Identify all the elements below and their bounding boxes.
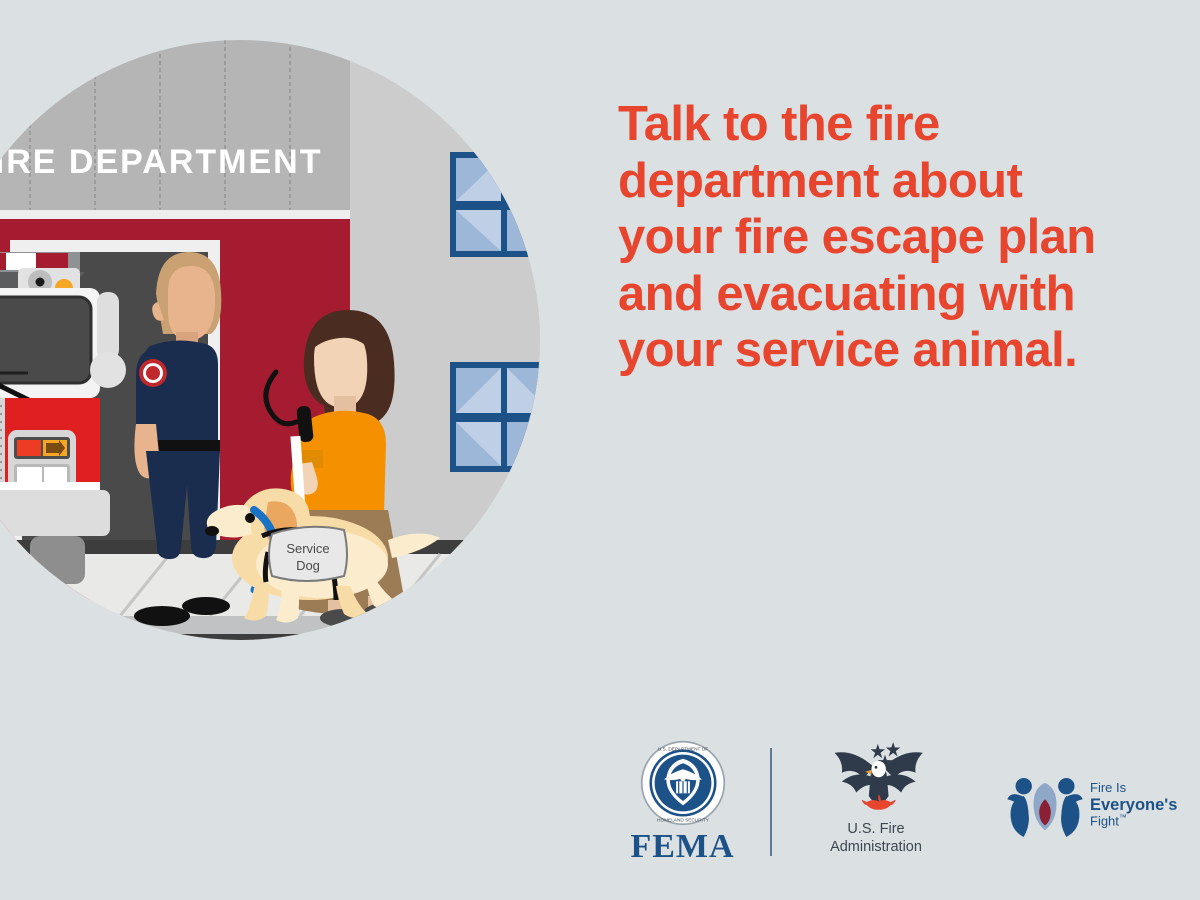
- fief-trademark: ™: [1119, 813, 1127, 822]
- truck-windshield-right: [0, 297, 91, 383]
- dog-harness-strap-rear: [334, 576, 336, 600]
- eagle-wing-right: [883, 752, 923, 778]
- two-figures-with-flame-icon: [1004, 771, 1086, 839]
- firefighter-head: [168, 266, 215, 340]
- fief-wordmark: Fire Is Everyone's Fight™: [1090, 781, 1177, 829]
- dhs-seal-ring-text-bottom: HOMELAND SECURITY: [657, 818, 710, 824]
- fire-is-everyones-fight-logo[interactable]: Fire Is Everyone's Fight™: [1004, 740, 1180, 870]
- illustration-fire-station-scene: FIRE DEPARTMENT: [0, 40, 570, 640]
- fief-line3-wrap: Fight™: [1090, 814, 1177, 829]
- fief-line3: Fight: [1090, 813, 1119, 828]
- dog-vest-text-line2: Dog: [296, 558, 320, 573]
- logo-bar: U.S. DEPARTMENT OF HOMELAND SECURITY FEM…: [600, 740, 1180, 870]
- truck-headlight: [17, 440, 41, 456]
- fief-figure-left-head: [1015, 778, 1031, 794]
- truck-bumper: [0, 490, 110, 536]
- truck-grille-panel: [0, 398, 5, 488]
- eagle-with-flames-icon: [822, 740, 930, 818]
- eagle-head: [872, 761, 886, 777]
- logo-divider: [770, 748, 772, 856]
- woman-shoe-right: [364, 603, 408, 621]
- fief-line2: Everyone's: [1090, 796, 1177, 814]
- fema-wordmark: FEMA: [610, 828, 755, 866]
- truck-wheel: [30, 536, 85, 584]
- fief-figure-right-head: [1058, 778, 1074, 794]
- firefighter-shoe-front: [134, 606, 190, 626]
- usfa-logo[interactable]: U.S. Fire Administration: [796, 740, 956, 870]
- firefighter-shoe-back: [182, 597, 230, 615]
- dog-nose: [205, 526, 219, 536]
- fief-line1: Fire Is: [1090, 781, 1177, 796]
- eagle-flames-icon: [862, 794, 896, 809]
- dog-harness-strap-front: [265, 552, 268, 582]
- usfa-wordmark: U.S. Fire Administration: [796, 820, 956, 856]
- truck-door-handle: [97, 292, 119, 360]
- building-sign-text: FIRE DEPARTMENT: [0, 143, 322, 181]
- eagle-wing-left: [835, 752, 875, 778]
- building-window-upper: [450, 152, 558, 257]
- poster-canvas: FIRE DEPARTMENT: [0, 0, 1200, 900]
- dhs-seal-ring-text-top: U.S. DEPARTMENT OF: [657, 746, 707, 752]
- scene-contents: FIRE DEPARTMENT: [0, 40, 570, 640]
- dog-vest-text-line1: Service: [286, 541, 329, 556]
- building-trim-band: [0, 210, 350, 219]
- headline-text: Talk to the fire department about your f…: [618, 96, 1158, 379]
- fema-logo[interactable]: U.S. DEPARTMENT OF HOMELAND SECURITY FEM…: [610, 740, 755, 870]
- illustration-svg: FIRE DEPARTMENT: [0, 40, 570, 640]
- dhs-seal-icon: U.S. DEPARTMENT OF HOMELAND SECURITY: [640, 740, 726, 826]
- street-asphalt: [0, 634, 570, 640]
- building-upper-panels: [0, 40, 350, 215]
- building-window-lower: [450, 362, 558, 472]
